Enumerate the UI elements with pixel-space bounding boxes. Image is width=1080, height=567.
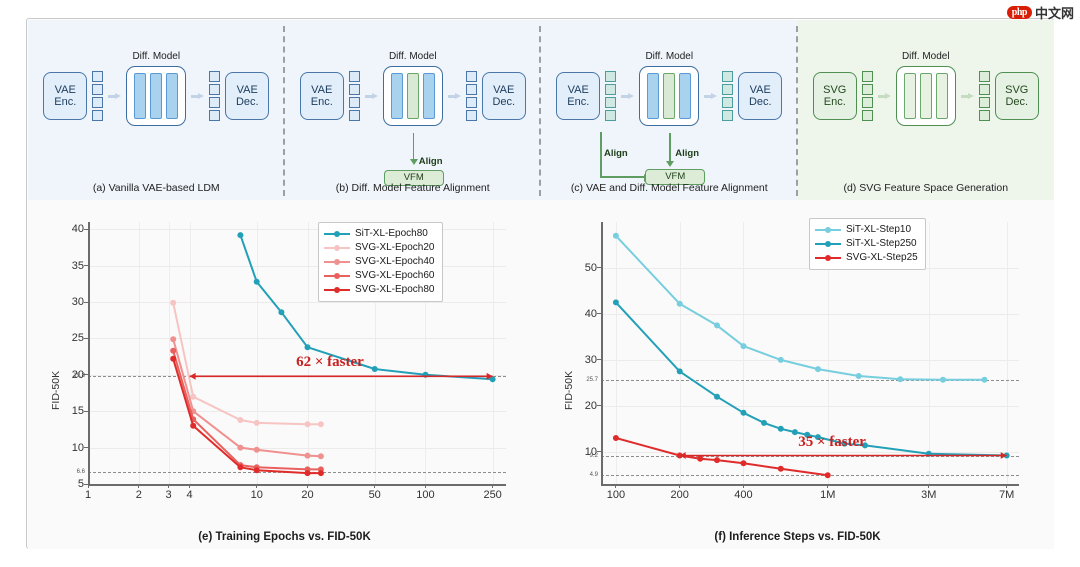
y-axis-tick-label: 35: [72, 260, 84, 272]
legend-label: SVG-XL-Epoch40: [355, 255, 435, 269]
encoder-label-line1: VAE: [311, 84, 332, 97]
align-arrowhead-icon: [666, 161, 674, 167]
x-axis-tick-label: 20: [301, 489, 313, 501]
y-axis-tick-label: 20: [585, 400, 597, 412]
latent-tokens-left-c: [605, 71, 616, 121]
legend-item[interactable]: SVG-XL-Epoch60: [324, 269, 435, 283]
panel-caption-b: (b) Diff. Model Feature Alignment: [285, 182, 542, 194]
figure-container: VAE Enc. Diff. Model VAE De: [26, 18, 1054, 549]
legend-label: SVG-XL-Epoch20: [355, 241, 435, 255]
diffusion-model-b: Diff. Model: [383, 66, 443, 126]
vae-encoder-box-a: VAE Enc.: [43, 72, 87, 120]
diagram-panel-b: VAE Enc. Diff. Model VAE De: [285, 20, 542, 200]
vae-encoder-box-c: VAE Enc.: [556, 72, 600, 120]
latent-tokens-right-a: [209, 71, 220, 121]
encoder-label-line2: Enc.: [54, 96, 76, 109]
legend-item[interactable]: SVG-XL-Epoch20: [324, 241, 435, 255]
diff-block: [904, 73, 916, 119]
legend-item[interactable]: SiT-XL-Epoch80: [324, 227, 435, 241]
x-axis-tick-label: 3: [165, 489, 171, 501]
vae-decoder-box-b: VAE Dec.: [482, 72, 526, 120]
x-axis-tick-label: 100: [607, 489, 625, 501]
legend-label: SVG-XL-Step25: [846, 251, 918, 265]
flow-arrow-icon: [621, 93, 634, 100]
diff-block: [679, 73, 691, 119]
x-axis-tick-label: 3M: [921, 489, 936, 501]
x-axis-tick-label: 50: [369, 489, 381, 501]
panel-caption-c: (c) VAE and Diff. Model Feature Alignmen…: [541, 182, 798, 194]
encoder-label-line1: SVG: [823, 84, 846, 97]
legend-item[interactable]: SVG-XL-Epoch40: [324, 255, 435, 269]
decoder-label-line2: Dec.: [749, 96, 772, 109]
chart-f-title: (f) Inference Steps vs. FID-50K: [541, 531, 1054, 543]
y-axis-tick-label: 30: [585, 354, 597, 366]
chart-f-inference-steps: FID-50K 10203040501002004001M3M7M25.79.2…: [541, 200, 1054, 549]
reference-line-label: 19.8: [73, 373, 85, 379]
y-axis-tick-label: 50: [585, 262, 597, 274]
latent-tokens-right-c: [722, 71, 733, 121]
legend-label: SiT-XL-Epoch80: [355, 227, 428, 241]
x-axis-tick-label: 2: [136, 489, 142, 501]
chart-e-legend: SiT-XL-Epoch80SVG-XL-Epoch20SVG-XL-Epoch…: [318, 222, 443, 302]
align-connector-diff: [669, 133, 671, 163]
reference-line-label: 4.9: [590, 472, 598, 478]
diagram-panel-a: VAE Enc. Diff. Model VAE De: [28, 20, 285, 200]
legend-swatch-icon: [324, 285, 350, 295]
architecture-diagram-row: VAE Enc. Diff. Model VAE De: [28, 20, 1054, 200]
align-connector-encoder: [600, 132, 602, 177]
legend-label: SiT-XL-Step250: [846, 237, 917, 251]
encoder-label-line2: Enc.: [567, 96, 589, 109]
legend-swatch-icon: [324, 257, 350, 267]
legend-label: SVG-XL-Epoch60: [355, 269, 435, 283]
latent-tokens-left-b: [349, 71, 360, 121]
diff-model-title: Diff. Model: [383, 51, 443, 62]
y-axis-tick-label: 40: [585, 308, 597, 320]
chart-f-ylabel: FID-50K: [563, 371, 575, 410]
diff-model-box: [639, 66, 699, 126]
diff-model-title: Diff. Model: [126, 51, 186, 62]
legend-swatch-icon: [324, 243, 350, 253]
diff-model-box: [383, 66, 443, 126]
speedup-annotation-label: 62 × faster: [296, 354, 364, 371]
y-axis-tick-label: 10: [72, 442, 84, 454]
vae-decoder-box-c: VAE Dec.: [738, 72, 782, 120]
diff-block: [134, 73, 146, 119]
x-axis-tick-label: 400: [734, 489, 752, 501]
flow-arrow-icon: [191, 93, 204, 100]
plots-row: FID-50K 51015202530354012341020501002501…: [28, 200, 1054, 549]
diff-block: [166, 73, 178, 119]
decoder-label-line1: VAE: [237, 84, 258, 97]
x-axis-tick-label: 200: [671, 489, 689, 501]
diff-block: [920, 73, 932, 119]
x-axis-tick-label: 4: [187, 489, 193, 501]
legend-swatch-icon: [324, 271, 350, 281]
latent-tokens-left-a: [92, 71, 103, 121]
pipeline-flow-a: VAE Enc. Diff. Model VAE De: [28, 36, 285, 156]
chart-e-ylabel: FID-50K: [50, 371, 62, 410]
legend-item[interactable]: SiT-XL-Step10: [815, 223, 918, 237]
chart-e-title: (e) Training Epochs vs. FID-50K: [28, 531, 541, 543]
diff-block: [150, 73, 162, 119]
legend-swatch-icon: [815, 253, 841, 263]
diff-block-aligned: [663, 73, 675, 119]
x-axis-tick-label: 1M: [820, 489, 835, 501]
decoder-label-line1: VAE: [493, 84, 514, 97]
flow-arrow-icon: [108, 93, 121, 100]
align-label-b: Align: [419, 156, 443, 167]
flow-arrow-icon: [961, 93, 974, 100]
align-label-c-2: Align: [675, 148, 699, 159]
diff-block: [423, 73, 435, 119]
flow-arrow-icon: [365, 93, 378, 100]
x-axis-tick-label: 10: [251, 489, 263, 501]
encoder-label-line1: VAE: [55, 84, 76, 97]
panel-caption-a: (a) Vanilla VAE-based LDM: [28, 182, 285, 194]
reference-line-label: 9.2: [590, 453, 598, 459]
align-label-c-1: Align: [604, 148, 628, 159]
diff-model-box: [126, 66, 186, 126]
legend-item[interactable]: SiT-XL-Step250: [815, 237, 918, 251]
panel-caption-d: (d) SVG Feature Space Generation: [798, 182, 1055, 194]
diagram-panel-d: SVG Enc. Diff. Model SVG De: [798, 20, 1055, 200]
decoder-label-line2: Dec.: [492, 96, 515, 109]
diff-model-box: [896, 66, 956, 126]
chart-e-plot-area: 510152025303540123410205010025019.86.662…: [88, 222, 506, 484]
x-axis-tick-label: 100: [416, 489, 434, 501]
legend-label: SVG-XL-Epoch80: [355, 283, 435, 297]
encoder-label-line2: Enc.: [311, 96, 333, 109]
chart-e-training-epochs: FID-50K 51015202530354012341020501002501…: [28, 200, 541, 549]
x-axis-tick-label: 250: [483, 489, 501, 501]
chart-f-legend: SiT-XL-Step10SiT-XL-Step250SVG-XL-Step25: [809, 218, 926, 270]
flow-arrow-icon: [704, 93, 717, 100]
vae-encoder-box-b: VAE Enc.: [300, 72, 344, 120]
watermark: php 中文网: [1007, 3, 1074, 22]
latent-tokens-left-d: [862, 71, 873, 121]
align-arrowhead-icon: [410, 159, 418, 165]
diff-block: [936, 73, 948, 119]
diff-block: [391, 73, 403, 119]
speedup-annotation-label: 35 × faster: [798, 434, 866, 451]
watermark-text: 中文网: [1035, 3, 1074, 22]
svg-encoder-box-d: SVG Enc.: [813, 72, 857, 120]
align-connector-encoder-h: [600, 176, 644, 178]
php-logo-badge: php: [1007, 6, 1032, 19]
decoder-label-line2: Dec.: [1005, 96, 1028, 109]
y-axis-tick-label: 30: [72, 296, 84, 308]
flow-arrow-icon: [448, 93, 461, 100]
diagram-panel-c: VAE Enc. Diff. Model VAE De: [541, 20, 798, 200]
decoder-label-line1: SVG: [1005, 84, 1028, 97]
decoder-label-line2: Dec.: [236, 96, 259, 109]
diffusion-model-d: Diff. Model: [896, 66, 956, 126]
latent-tokens-right-d: [979, 71, 990, 121]
diff-model-title: Diff. Model: [639, 51, 699, 62]
diff-block-aligned: [407, 73, 419, 119]
legend-item[interactable]: SVG-XL-Epoch80: [324, 283, 435, 297]
legend-swatch-icon: [815, 239, 841, 249]
diffusion-model-c: Diff. Model: [639, 66, 699, 126]
x-axis-tick-label: 7M: [999, 489, 1014, 501]
y-axis-tick-label: 25: [72, 332, 84, 344]
diff-block: [647, 73, 659, 119]
pipeline-flow-d: SVG Enc. Diff. Model SVG De: [798, 36, 1055, 156]
legend-label: SiT-XL-Step10: [846, 223, 911, 237]
y-axis-tick-label: 40: [72, 223, 84, 235]
svg-decoder-box-d: SVG Dec.: [995, 72, 1039, 120]
decoder-label-line1: VAE: [750, 84, 771, 97]
reference-line-label: 6.6: [77, 469, 85, 475]
vae-decoder-box-a: VAE Dec.: [225, 72, 269, 120]
y-axis-tick-label: 15: [72, 405, 84, 417]
align-connector: [413, 133, 415, 161]
x-axis-tick-label: 1: [85, 489, 91, 501]
reference-line-label: 25.7: [586, 377, 598, 383]
diffusion-model-a: Diff. Model: [126, 66, 186, 126]
latent-tokens-right-b: [466, 71, 477, 121]
diff-model-title: Diff. Model: [896, 51, 956, 62]
legend-item[interactable]: SVG-XL-Step25: [815, 251, 918, 265]
flow-arrow-icon: [878, 93, 891, 100]
legend-swatch-icon: [324, 229, 350, 239]
encoder-label-line2: Enc.: [824, 96, 846, 109]
encoder-label-line1: VAE: [568, 84, 589, 97]
legend-swatch-icon: [815, 225, 841, 235]
